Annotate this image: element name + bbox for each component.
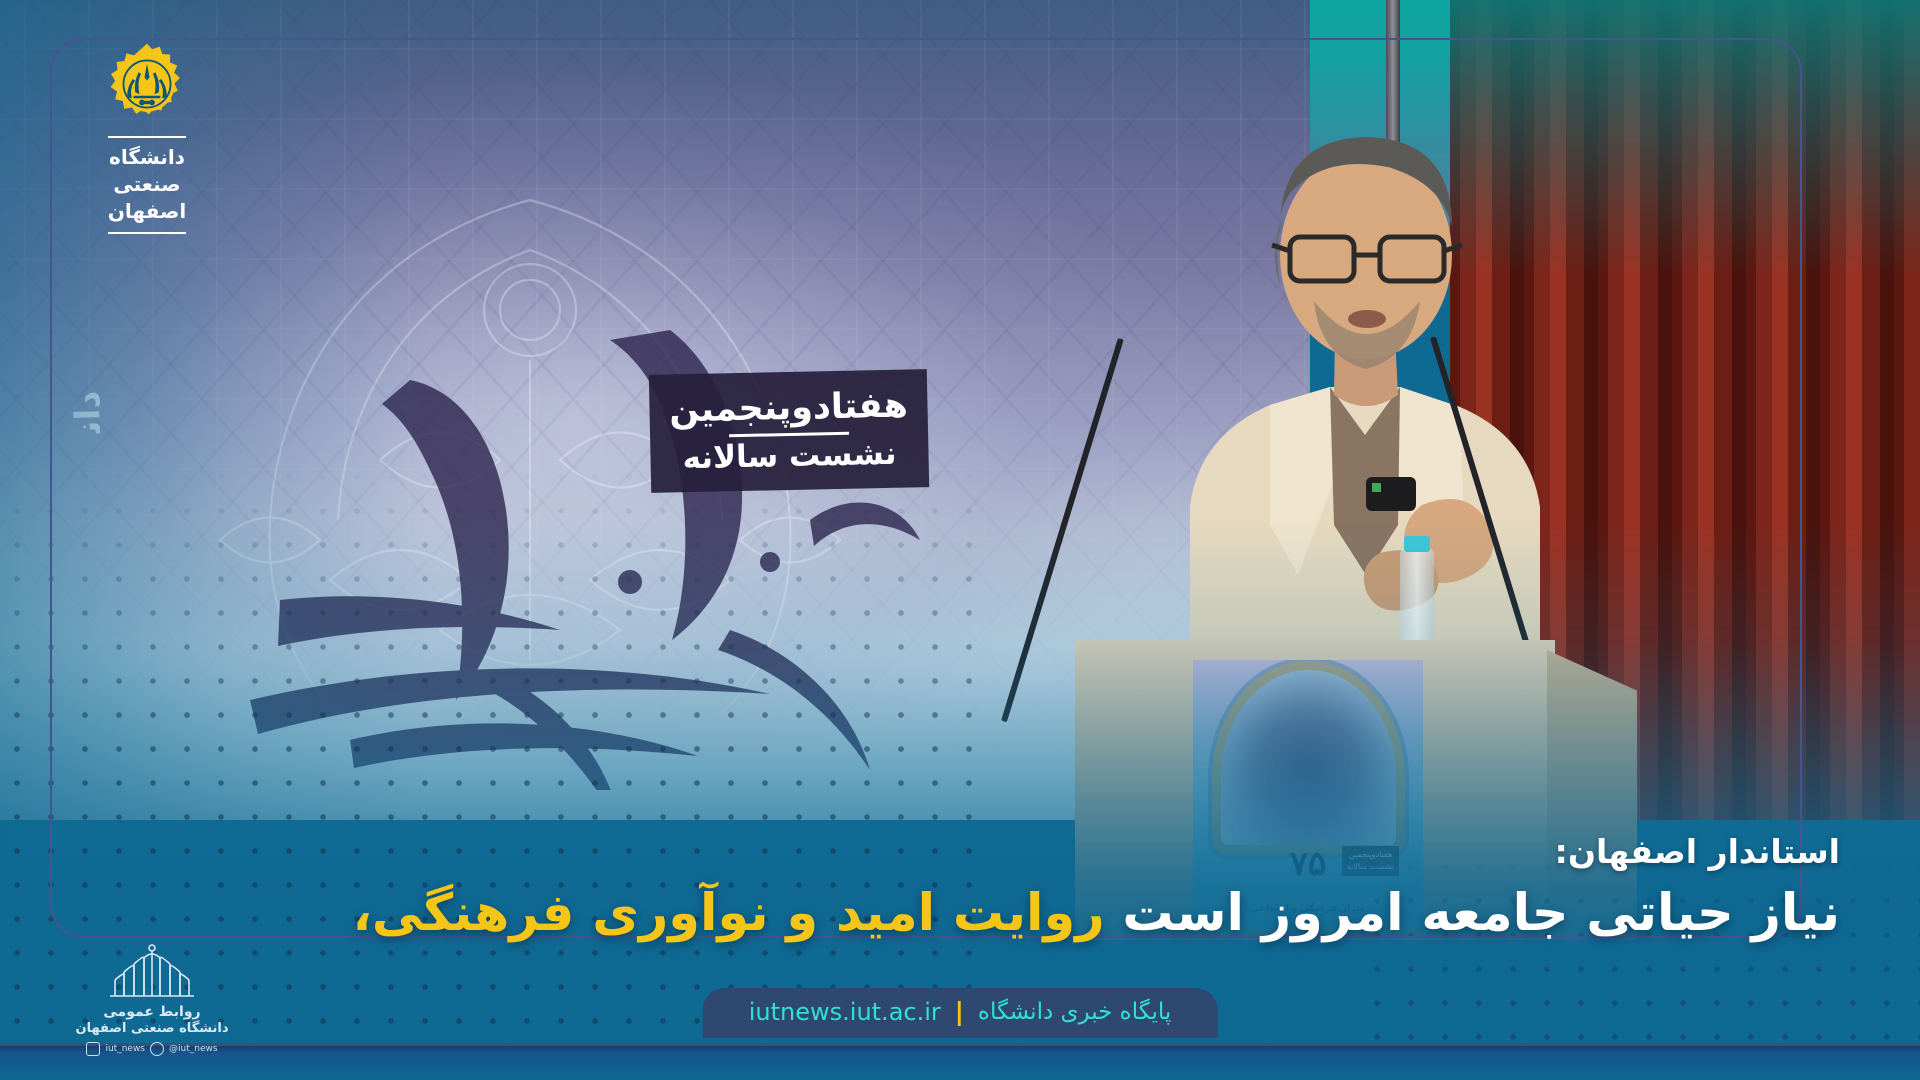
headline-rest: نیاز حیاتی جامعه امروز است — [1122, 884, 1840, 943]
footer-site-label: پایگاه خبری دانشگاه — [978, 999, 1171, 1025]
iut-gear-seal-icon — [105, 42, 189, 126]
bottom-strip — [0, 1043, 1920, 1080]
university-logo-text: دانشگاه صنعتی اصفهان — [108, 136, 186, 234]
footer-site-pill[interactable]: پایگاه خبری دانشگاه | iutnews.iut.ac.ir — [703, 988, 1218, 1038]
logo-line-3: اصفهان — [108, 198, 186, 225]
headline-kicker: استاندار اصفهان: — [1555, 832, 1840, 871]
logo-line-2: صنعتی — [108, 171, 186, 198]
instagram-icon[interactable] — [86, 1042, 100, 1056]
instagram-handle: iut_news — [105, 1044, 145, 1054]
footer-separator: | — [955, 1001, 964, 1024]
headline-highlight: روایت امید و نوآوری فرهنگی، — [353, 884, 1105, 943]
public-relations-logo: روابط عمومی دانشگاه صنعتی اصفهان iut_new… — [64, 944, 240, 1056]
university-logo: دانشگاه صنعتی اصفهان — [62, 42, 232, 234]
telegram-handle: @iut_news — [169, 1044, 218, 1054]
iut-towers-mark-icon — [96, 944, 208, 1000]
social-handles: iut_news @iut_news — [64, 1042, 240, 1056]
headline: نیاز حیاتی جامعه امروز است روایت امید و … — [100, 882, 1840, 946]
pr-line-2: دانشگاه صنعتی اصفهان — [64, 1021, 240, 1036]
session-line1: هفتادوپنجمین — [669, 388, 908, 428]
footer-url[interactable]: iutnews.iut.ac.ir — [749, 998, 941, 1026]
telegram-icon[interactable] — [150, 1042, 164, 1056]
banner-canvas: دانشگاه آینده ایرانی، حکمرانی فروتنانه، … — [0, 0, 1920, 1080]
logo-line-1: دانشگاه — [108, 144, 186, 171]
session-divider — [729, 431, 849, 437]
pr-line-1: روابط عمومی — [64, 1004, 240, 1020]
